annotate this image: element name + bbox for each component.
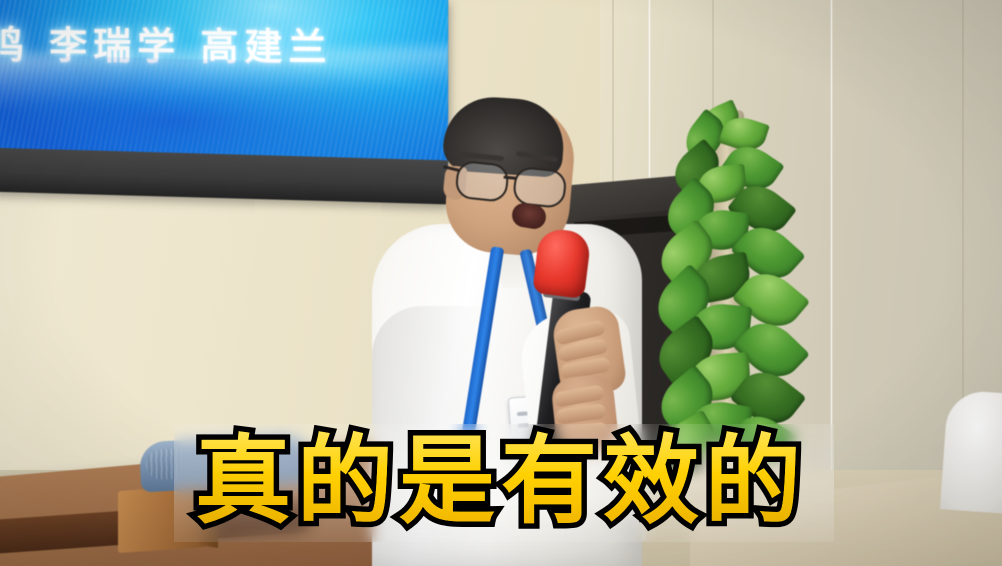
video-frame: 鸣 李瑞学 高建兰 bbox=[0, 0, 1002, 566]
subtitle-text: 真的是有效的 bbox=[0, 425, 1002, 537]
slide-names-text: 鸣 李瑞学 高建兰 bbox=[0, 14, 426, 72]
potted-plant bbox=[648, 106, 820, 456]
glasses-lens bbox=[454, 160, 510, 203]
